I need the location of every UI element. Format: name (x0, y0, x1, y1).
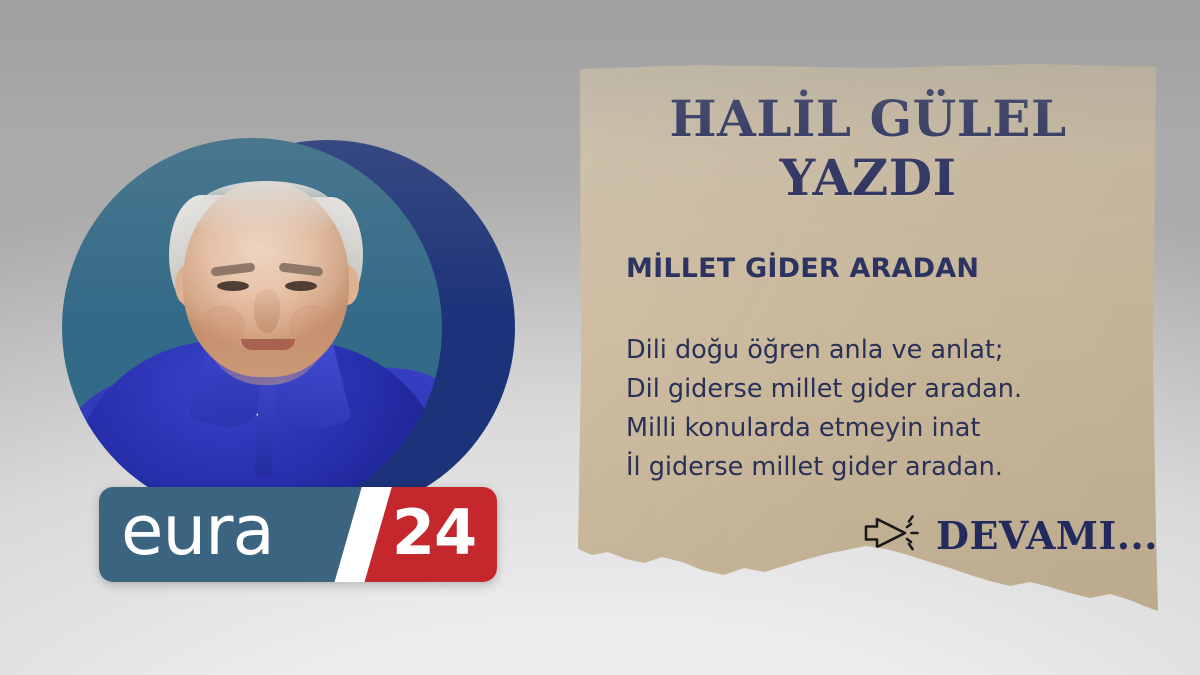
author-portrait-block (40, 120, 560, 520)
torn-paper-card: HALİL GÜLEL YAZDI MİLLET GİDER ARADAN Di… (578, 63, 1158, 615)
poem-body: Dili doğu öğren anla ve anlat; Dil gider… (626, 331, 1126, 487)
poem-line: İl giderse millet gider aradan. (626, 448, 1126, 487)
read-more-label: DEVAMI... (936, 513, 1158, 558)
paper-content: HALİL GÜLEL YAZDI MİLLET GİDER ARADAN Di… (578, 63, 1158, 615)
arrow-right-click-icon (864, 513, 920, 558)
logo-left-panel: eura (99, 487, 361, 582)
author-photo (107, 173, 407, 518)
photo-hair-top (199, 181, 333, 233)
poem-line: Dil giderse millet gider aradan. (626, 370, 1126, 409)
portrait-circle-frame (62, 138, 442, 518)
photo-eye-left (217, 281, 249, 291)
page-title: HALİL GÜLEL YAZDI (578, 89, 1158, 207)
poem-line: Dili doğu öğren anla ve anlat; (626, 331, 1126, 370)
graphic-canvas: eura 24 HALİL GÜLEL YAZDI MİLLET GİDER A… (0, 0, 1200, 675)
eura24-logo[interactable]: eura 24 (99, 487, 497, 582)
article-subheadline: MİLLET GİDER ARADAN (626, 253, 979, 284)
photo-mouth (241, 339, 295, 350)
logo-wordmark: eura (99, 497, 274, 566)
poem-line: Milli konularda etmeyin inat (626, 409, 1126, 448)
read-more-button[interactable]: DEVAMI... (864, 513, 1158, 558)
photo-eye-right (285, 281, 317, 291)
logo-number: 24 (392, 502, 476, 564)
